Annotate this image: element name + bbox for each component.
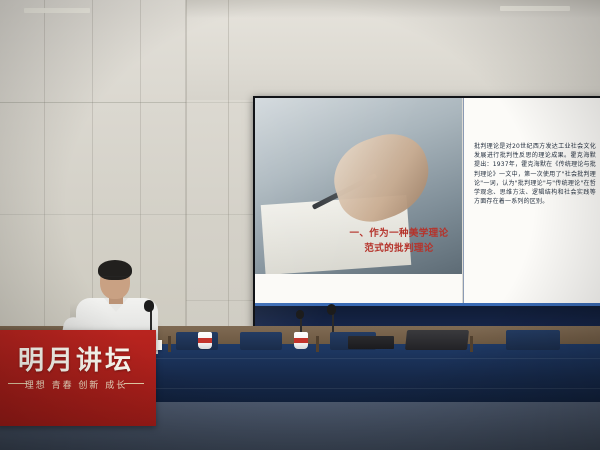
chair bbox=[506, 330, 560, 350]
microphone bbox=[144, 300, 154, 312]
desk-panel-divider bbox=[470, 336, 473, 352]
paper-cup bbox=[198, 332, 212, 349]
banner-subtitle: 理想 青春 创新 成长 bbox=[0, 378, 156, 391]
desk-panel-divider bbox=[316, 336, 319, 352]
slide: 批判理论是对20世纪西方发达工业社会文化发展进行批判性反思的理论成果。霍克海默提… bbox=[255, 98, 600, 329]
microphone-stem bbox=[332, 312, 334, 332]
paper-cup bbox=[294, 332, 308, 349]
presentation-screen: 批判理论是对20世纪西方发达工业社会文化发展进行批判性反思的理论成果。霍克海默提… bbox=[253, 96, 600, 331]
laptop bbox=[405, 330, 469, 350]
photo-scene: 批判理论是对20世纪西方发达工业社会文化发展进行批判性反思的理论成果。霍克海默提… bbox=[0, 0, 600, 450]
ceiling-light bbox=[500, 6, 570, 11]
ceiling-light bbox=[24, 8, 90, 13]
event-banner: 明月讲坛 理想 青春 创新 成长 bbox=[0, 330, 156, 426]
slide-text-panel bbox=[462, 98, 600, 329]
slide-body-text: 批判理论是对20世纪西方发达工业社会文化发展进行批判性反思的理论成果。霍克海默提… bbox=[474, 142, 596, 206]
microphone bbox=[327, 304, 336, 315]
slide-title-line-2: 范式的批判理论 bbox=[343, 241, 455, 256]
banner-title: 明月讲坛 bbox=[0, 340, 156, 377]
desk-panel-divider bbox=[168, 336, 171, 352]
nameplate bbox=[348, 336, 394, 349]
cup-band bbox=[294, 338, 308, 343]
cup-band bbox=[198, 338, 212, 343]
slide-title-line-1: 一、作为一种美学理论 bbox=[343, 226, 455, 241]
slide-title: 一、作为一种美学理论 范式的批判理论 bbox=[343, 226, 455, 256]
speaker-glasses bbox=[101, 276, 129, 283]
screen-display: 批判理论是对20世纪西方发达工业社会文化发展进行批判性反思的理论成果。霍克海默提… bbox=[255, 98, 600, 329]
chair bbox=[240, 332, 282, 350]
slide-divider bbox=[463, 98, 464, 329]
microphone bbox=[296, 310, 304, 319]
